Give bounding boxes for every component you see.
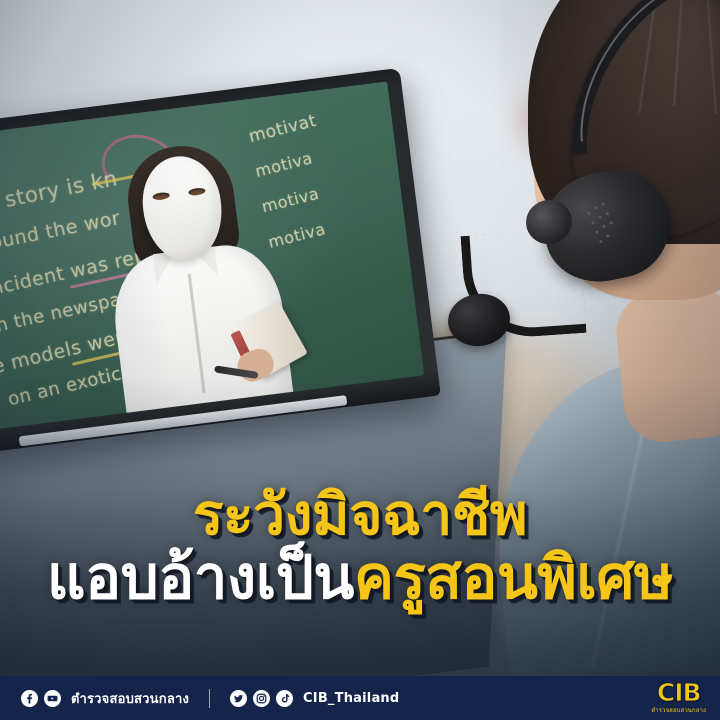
cib-thailand-handle: CIB_Thailand (303, 691, 399, 706)
background-photo: o her story is kn around the wor he inci… (0, 0, 720, 720)
cib-logo: CIB ตำรวจสอบสวนกลาง (651, 681, 720, 716)
headset-speaker-grille (582, 198, 636, 251)
laptop: o her story is kn around the wor he inci… (0, 68, 441, 454)
masked-teacher-figure (88, 136, 298, 431)
cib-logo-subtitle: ตำรวจสอบสวนกลาง (651, 705, 706, 715)
laptop-screen: o her story is kn around the wor he inci… (0, 82, 424, 431)
woman-with-headset (470, 0, 720, 720)
tiktok-icon[interactable] (276, 690, 293, 707)
footer-bar: ตำรวจสอบสวนกลาง (0, 676, 720, 720)
youtube-icon[interactable] (44, 690, 61, 707)
poster-canvas: o her story is kn around the wor he inci… (0, 0, 720, 720)
cib-logo-word: CIB (657, 681, 701, 705)
twitter-icon[interactable] (230, 690, 247, 707)
woman-neck (612, 284, 720, 446)
facebook-youtube-handle: ตำรวจสอบสวนกลาง (71, 688, 189, 709)
social-group-cib-thailand: CIB_Thailand (230, 690, 399, 707)
facebook-icon[interactable] (21, 690, 38, 707)
social-group-central-police: ตำรวจสอบสวนกลาง (21, 688, 189, 709)
instagram-icon[interactable] (253, 690, 270, 707)
footer-divider (209, 689, 210, 708)
footer-social-row: ตำรวจสอบสวนกลาง (0, 688, 399, 709)
